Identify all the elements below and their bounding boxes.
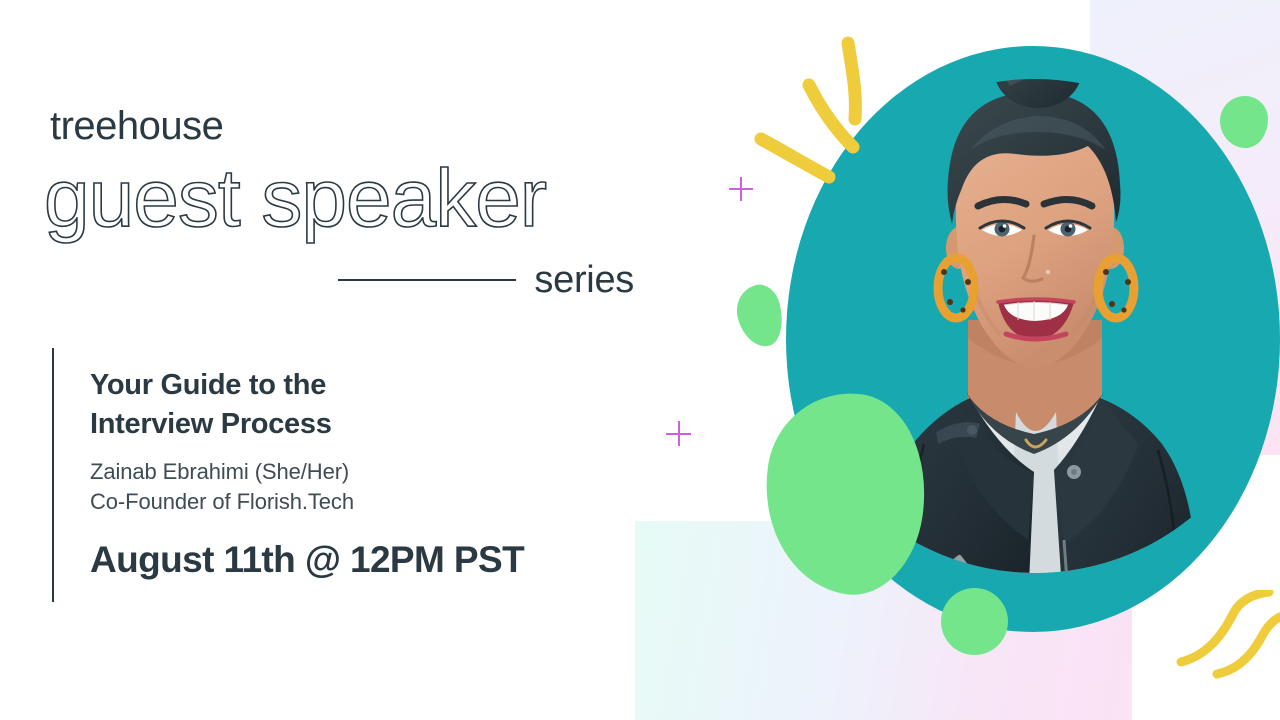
talk-title: Your Guide to the Interview Process [90, 366, 630, 443]
green-circle-icon [941, 588, 1008, 655]
treehouse-wordmark: treehouse [50, 106, 223, 146]
plus-mark-top-icon [729, 177, 753, 201]
speaker-role: Co-Founder of Florish.Tech [90, 487, 630, 517]
talk-title-line-2: Interview Process [90, 405, 630, 444]
event-date-time: August 11th @ 12PM PST [90, 541, 630, 578]
promo-graphic: treehouse guest speaker series Your Guid… [0, 0, 1280, 720]
plus-mark-middle-icon [666, 421, 691, 446]
headline-guest-speaker: guest speaker [44, 158, 546, 240]
series-label: series [534, 261, 634, 299]
yellow-brush-strokes-bottom-icon [1175, 590, 1280, 680]
promo-text-column: treehouse guest speaker series Your Guid… [0, 0, 660, 720]
green-blob-small-icon [731, 281, 789, 352]
talk-title-line-1: Your Guide to the [90, 366, 630, 405]
series-row: series [44, 258, 634, 302]
vertical-accent-bar [52, 348, 54, 602]
speaker-name: Zainab Ebrahimi (She/Her) [90, 457, 630, 487]
event-details: Your Guide to the Interview Process Zain… [90, 366, 630, 578]
series-divider-rule [338, 279, 516, 281]
